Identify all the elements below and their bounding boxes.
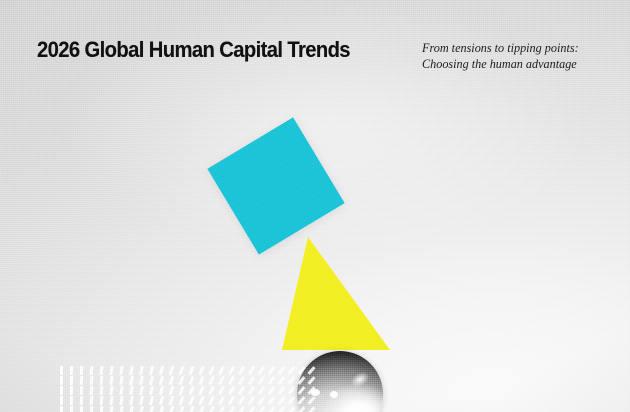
tick-dash — [288, 366, 296, 375]
tick-dash — [139, 366, 144, 375]
tick-dash — [149, 386, 154, 395]
tick-dash — [90, 386, 94, 395]
page-title: 2026 Global Human Capital Trends — [37, 39, 350, 62]
tick-dash — [60, 376, 63, 385]
tick-dash — [238, 366, 245, 375]
tick-dash — [188, 396, 194, 405]
tick-dash — [179, 396, 185, 405]
tick-dash — [307, 396, 315, 405]
tick-dash — [159, 366, 164, 375]
tick-dash — [268, 376, 276, 385]
tick-dash — [307, 406, 315, 412]
tick-dash — [297, 376, 305, 385]
tick-dash — [288, 396, 296, 405]
tick-dash-pattern — [60, 366, 320, 412]
tick-dash — [169, 396, 175, 405]
tick-dash — [278, 366, 286, 375]
tick-dash — [248, 406, 255, 412]
tick-dash — [60, 366, 63, 375]
tick-dash — [188, 406, 194, 412]
tick-dash — [119, 386, 124, 395]
yellow-triangle — [279, 236, 393, 352]
tick-dash — [288, 376, 296, 385]
tick-dash — [179, 406, 185, 412]
page-subtitle-line-2: Choosing the human advantage — [422, 56, 579, 72]
tick-dash — [119, 366, 124, 375]
tick-dash — [139, 386, 144, 395]
tick-dash — [307, 376, 315, 385]
tick-dash — [238, 376, 245, 385]
tick-dash — [109, 376, 113, 385]
tick-dash — [208, 406, 215, 412]
tick-dash — [238, 386, 245, 395]
tick-dash — [228, 406, 235, 412]
tick-dash — [268, 386, 276, 395]
tick-dash — [159, 376, 164, 385]
tick-dash — [119, 406, 124, 412]
tick-dash — [179, 366, 185, 375]
tick-dash — [159, 386, 164, 395]
tick-dash — [149, 406, 154, 412]
tick-dash — [288, 386, 296, 395]
tick-dash — [60, 396, 63, 405]
tick-dash — [129, 376, 134, 385]
tick-dash — [188, 376, 194, 385]
tick-dash — [218, 396, 225, 405]
tick-dash — [80, 366, 84, 375]
tick-dash — [248, 376, 255, 385]
tick-dash — [208, 376, 215, 385]
tick-dash — [208, 396, 215, 405]
tick-dash — [149, 396, 154, 405]
tick-dash — [119, 396, 124, 405]
tick-dash — [90, 376, 94, 385]
tick-dash — [198, 406, 204, 412]
tick-dash — [218, 386, 225, 395]
tick-dash — [99, 386, 103, 395]
tick-dash — [80, 396, 84, 405]
tick-dash — [218, 376, 225, 385]
tick-dash — [70, 366, 73, 375]
tick-dash — [238, 396, 245, 405]
tick-dash — [228, 386, 235, 395]
tick-dash — [248, 366, 255, 375]
poster-canvas: 2026 Global Human Capital Trends From te… — [0, 0, 630, 412]
tick-dash — [278, 376, 286, 385]
tick-dash — [169, 386, 175, 395]
tick-dash — [70, 386, 73, 395]
tick-dash — [109, 406, 113, 412]
tick-dash — [80, 406, 84, 412]
tick-dash — [268, 366, 276, 375]
tick-dash — [268, 396, 276, 405]
tick-dash — [60, 386, 63, 395]
tick-dash — [268, 406, 276, 412]
tick-dash — [258, 366, 265, 375]
tick-dash — [248, 386, 255, 395]
tick-dash — [169, 376, 175, 385]
tick-dash — [70, 376, 73, 385]
tick-dash — [228, 396, 235, 405]
page-subtitle-line-1: From tensions to tipping points: — [422, 40, 579, 56]
tick-dash — [307, 366, 315, 375]
tick-dash — [60, 406, 63, 412]
tick-dash — [169, 366, 175, 375]
tick-dash — [129, 366, 134, 375]
tick-dash — [218, 366, 225, 375]
tick-dash — [288, 406, 296, 412]
tick-dash — [218, 406, 225, 412]
tick-dash — [258, 386, 265, 395]
tick-dash — [198, 376, 204, 385]
tick-dash — [198, 396, 204, 405]
tick-dash — [149, 376, 154, 385]
tick-dash — [129, 406, 134, 412]
tick-dash — [179, 386, 185, 395]
tick-dash — [258, 376, 265, 385]
tick-dash — [109, 396, 113, 405]
tick-dash — [278, 386, 286, 395]
tick-dash — [90, 406, 94, 412]
tick-dash — [198, 386, 204, 395]
tick-dash — [208, 386, 215, 395]
tick-dash — [99, 366, 103, 375]
tick-dash — [228, 376, 235, 385]
tick-dash — [169, 406, 175, 412]
tick-dash — [129, 396, 134, 405]
tick-dash — [149, 366, 154, 375]
tick-dash — [109, 366, 113, 375]
tick-dash — [297, 396, 305, 405]
tick-dash — [99, 406, 103, 412]
tick-dash — [248, 396, 255, 405]
tick-dash — [129, 386, 134, 395]
tick-dash — [307, 386, 315, 395]
tick-dash — [258, 406, 265, 412]
tick-dash — [228, 366, 235, 375]
tick-dash — [258, 396, 265, 405]
tick-dash — [188, 386, 194, 395]
page-subtitle: From tensions to tipping points: Choosin… — [422, 40, 579, 72]
tick-dash — [278, 406, 286, 412]
tick-dash — [70, 396, 73, 405]
tick-dash — [90, 396, 94, 405]
tick-dash — [159, 396, 164, 405]
tick-dash — [208, 366, 215, 375]
tick-dash — [119, 376, 124, 385]
tick-dash — [109, 386, 113, 395]
tick-dash — [238, 406, 245, 412]
tick-dash — [80, 386, 84, 395]
tick-dash — [139, 406, 144, 412]
tick-dash — [70, 406, 73, 412]
tick-dash — [297, 386, 305, 395]
tick-dash — [278, 396, 286, 405]
tick-dash — [159, 406, 164, 412]
tick-dash — [99, 396, 103, 405]
tick-dash — [297, 366, 305, 375]
tick-dash — [198, 366, 204, 375]
tick-dash — [90, 366, 94, 375]
tick-dash — [188, 366, 194, 375]
tick-dash — [139, 376, 144, 385]
tick-dash — [297, 406, 305, 412]
tick-dash — [179, 376, 185, 385]
tick-dash — [139, 396, 144, 405]
tick-dash — [80, 376, 84, 385]
tick-dash — [99, 376, 103, 385]
